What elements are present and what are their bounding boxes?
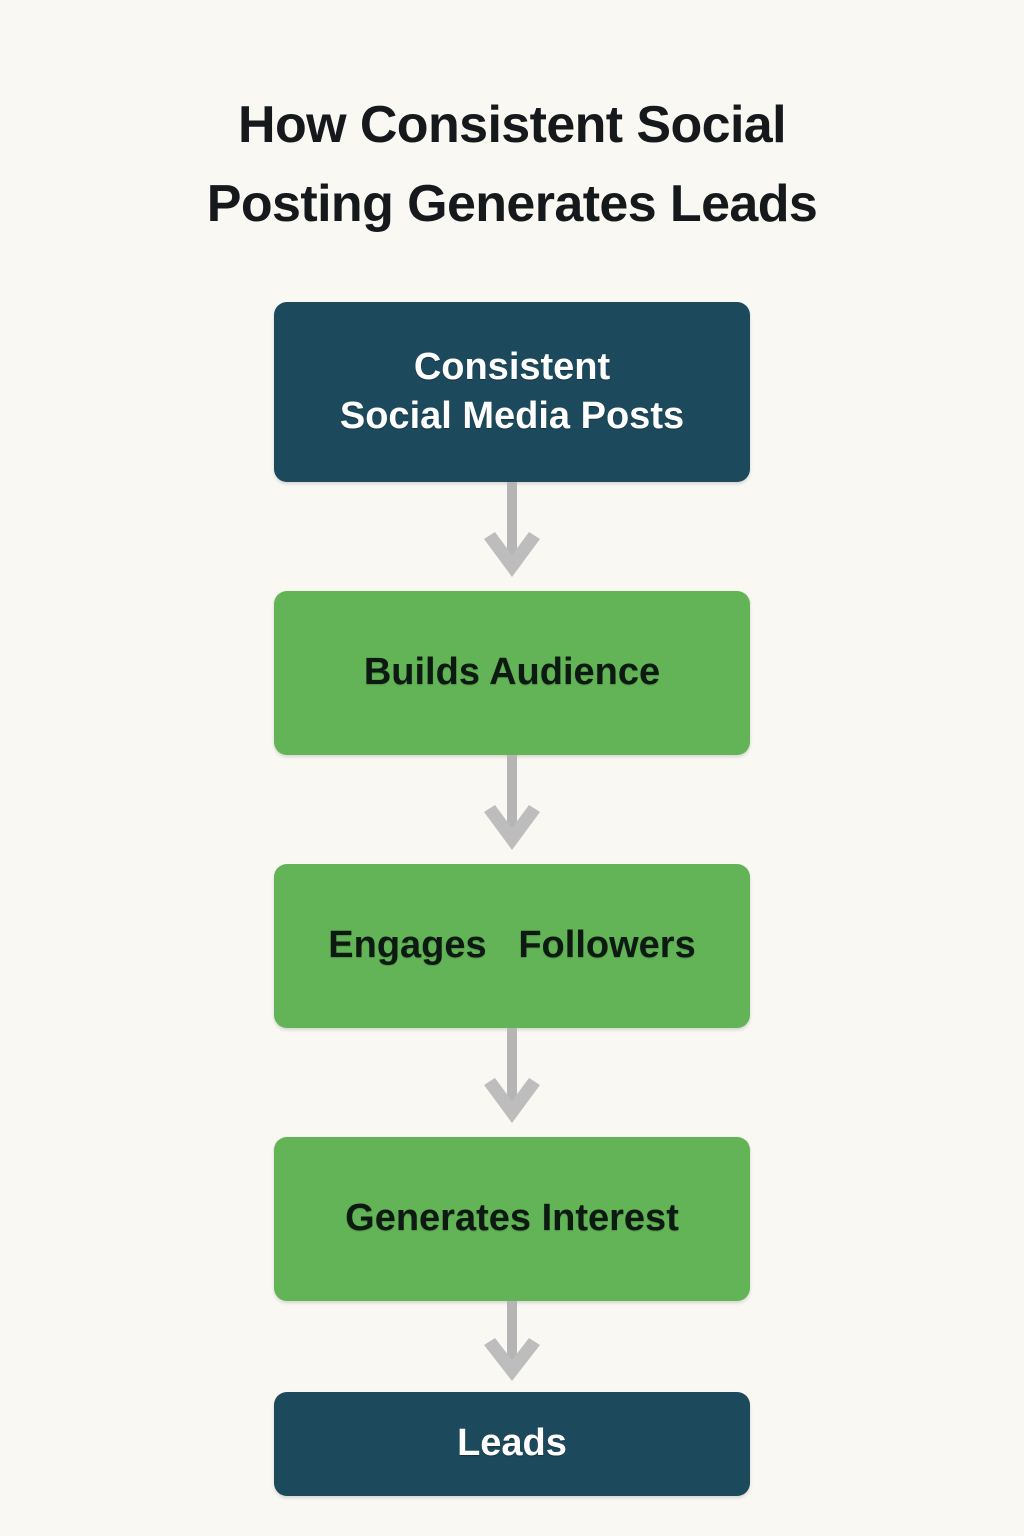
page-title-line-1: How Consistent Social <box>60 86 964 165</box>
arrow-down-icon <box>482 1028 542 1137</box>
page-title: How Consistent Social Posting Generates … <box>0 86 1024 244</box>
flow-node-label: Builds Audience <box>364 648 660 697</box>
diagram-canvas: How Consistent Social Posting Generates … <box>0 0 1024 1536</box>
arrow-down-icon <box>482 1301 542 1392</box>
flow-connector-3 <box>274 1028 750 1137</box>
flow-node-leads[interactable]: Leads <box>274 1392 750 1496</box>
flow-node-label: Leads <box>457 1419 567 1468</box>
flow-node-label: Generates Interest <box>345 1194 679 1243</box>
arrow-down-icon <box>482 482 542 591</box>
flow-node-label: Consistent Social Media Posts <box>340 343 684 442</box>
flow-node-engages-followers[interactable]: Engages Followers <box>274 864 750 1028</box>
flow-connector-2 <box>274 755 750 864</box>
flow-connector-1 <box>274 482 750 591</box>
flow-node-label: Engages Followers <box>328 921 695 970</box>
flow-node-builds-audience[interactable]: Builds Audience <box>274 591 750 755</box>
flow-connector-4 <box>274 1301 750 1392</box>
flowchart: Consistent Social Media Posts Builds Aud… <box>274 302 750 1496</box>
page-title-line-2: Posting Generates Leads <box>60 165 964 244</box>
flow-node-consistent-social-media-posts[interactable]: Consistent Social Media Posts <box>274 302 750 482</box>
flow-node-generates-interest[interactable]: Generates Interest <box>274 1137 750 1301</box>
arrow-down-icon <box>482 755 542 864</box>
